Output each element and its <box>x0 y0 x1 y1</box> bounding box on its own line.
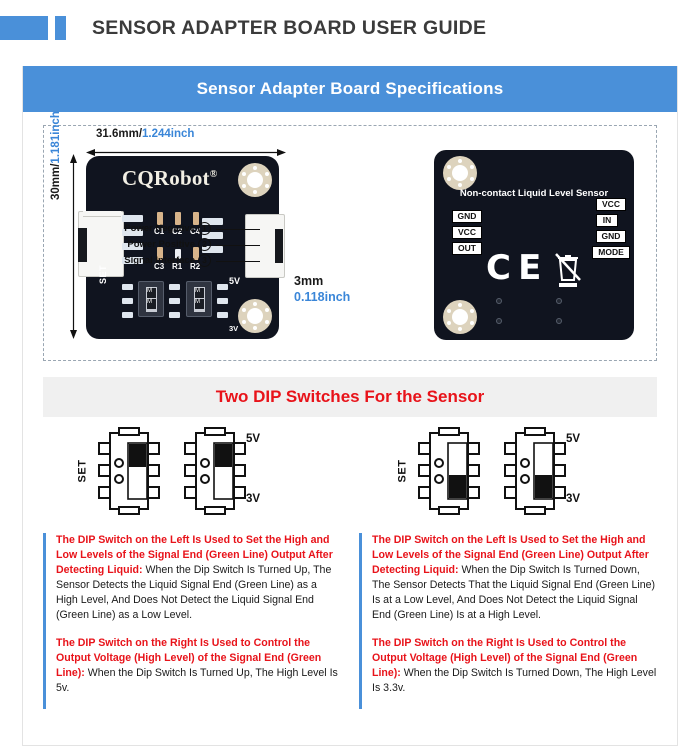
weee-bin-icon <box>552 250 584 290</box>
content-card: Sensor Adapter Board Specifications 31.6… <box>22 66 678 746</box>
callout-number: 1 <box>198 222 211 235</box>
description-paragraph: The DIP Switch on the Right Is Used to C… <box>372 636 657 696</box>
dip-set-label: SET <box>76 460 88 483</box>
pin-label-in-right: IN <box>596 214 618 227</box>
pcb-dip-switch-2[interactable]: MM <box>186 281 212 317</box>
dip-switch-down-2[interactable] <box>502 427 568 515</box>
cqrobot-logo: CQRobot® <box>122 166 217 191</box>
callout-number: 3 <box>198 254 211 267</box>
ce-mark-icon: C E <box>486 255 539 282</box>
page-header: SENSOR ADAPTER BOARD USER GUIDE <box>0 0 700 56</box>
callout-number: 2 <box>198 238 211 251</box>
header-accent-bar-narrow <box>55 16 66 40</box>
pcb-voltage-5v: 5V <box>229 276 240 286</box>
dip-set-label: SET <box>396 460 408 483</box>
callout-label: Power Negative <box>124 223 195 234</box>
dip-group-up: SET <box>71 427 248 515</box>
dip-switch-up-2[interactable] <box>182 427 248 515</box>
thickness-dimension-label: 3mm 0.118inch <box>294 274 350 305</box>
dip-voltage-3v-right: 3V <box>566 493 580 505</box>
callout-label: Signal Interface <box>124 255 195 266</box>
thickness-inch: 0.118inch <box>294 290 350 306</box>
dip-section-banner: Two DIP Switches For the Sensor <box>43 377 657 417</box>
pcb-voltage-3v: 3V <box>229 324 238 333</box>
height-inch: 1.181inch <box>50 111 62 163</box>
pin-label-mode-right: MODE <box>592 246 630 259</box>
board-diagram-frame: 31.6mm/1.244inch 30mm/1.181inch 3mm 0.11… <box>43 125 657 361</box>
page-title: SENSOR ADAPTER BOARD USER GUIDE <box>92 17 486 40</box>
description-paragraph: The DIP Switch on the Left Is Used to Se… <box>372 533 657 623</box>
sensor-board-image: Non-contact Liquid Level Sensor GND VCC … <box>434 150 634 340</box>
mounting-hole-icon <box>238 163 272 197</box>
mounting-hole-icon <box>443 300 477 334</box>
dip-switch-up-1[interactable] <box>96 427 162 515</box>
description-row: The DIP Switch on the Left Is Used to Se… <box>43 533 657 709</box>
width-inch: 1.244inch <box>142 128 194 140</box>
callout-label: Power Positive <box>127 239 195 250</box>
specifications-banner: Sensor Adapter Board Specifications <box>23 66 677 112</box>
description-column-right: The DIP Switch on the Left Is Used to Se… <box>359 533 657 709</box>
width-dimension-label: 31.6mm/1.244inch <box>96 128 194 140</box>
pin-label-out-left: OUT <box>452 242 482 255</box>
pcb-dip-switch-1[interactable]: MM <box>138 281 164 317</box>
dip-diagram-row: SET <box>43 427 657 527</box>
pin-label-gnd-left: GND <box>452 210 482 223</box>
width-mm: 31.6mm/ <box>96 128 142 140</box>
callout-power-negative: Power Negative1 <box>64 222 214 235</box>
thickness-mm: 3mm <box>294 274 350 290</box>
pin-label-vcc-left: VCC <box>452 226 482 239</box>
description-rest: When the Dip Switch Is Turned Up, The Hi… <box>56 667 338 694</box>
mounting-hole-icon <box>238 299 272 333</box>
dip-voltage-3v-left: 3V <box>246 493 260 505</box>
description-paragraph: The DIP Switch on the Right Is Used to C… <box>56 636 341 696</box>
callout-power-positive: Power Positive2 <box>64 238 214 251</box>
height-mm: 30mm/ <box>50 164 62 200</box>
mounting-hole-icon <box>443 156 477 190</box>
registered-mark: ® <box>210 169 218 180</box>
dip-voltage-5v-right: 5V <box>566 433 580 445</box>
dip-switch-down-1[interactable] <box>416 427 482 515</box>
right-connector-icon <box>245 214 285 278</box>
header-accent-bar-wide <box>0 16 48 40</box>
logo-text: CQRobot <box>122 166 210 190</box>
dip-voltage-5v-left: 5V <box>246 433 260 445</box>
description-paragraph: The DIP Switch on the Left Is Used to Se… <box>56 533 341 623</box>
description-rest: When the Dip Switch Is Turned Down, The … <box>372 667 656 694</box>
pin-label-vcc-right: VCC <box>596 198 626 211</box>
pcb-set-label: SET <box>98 265 108 284</box>
callout-signal-interface: Signal Interface3 <box>64 254 214 267</box>
description-column-left: The DIP Switch on the Left Is Used to Se… <box>43 533 341 709</box>
pin-label-gnd-right: GND <box>596 230 626 243</box>
height-dimension-label: 30mm/1.181inch <box>50 111 62 200</box>
dip-group-down: SET <box>391 427 568 515</box>
